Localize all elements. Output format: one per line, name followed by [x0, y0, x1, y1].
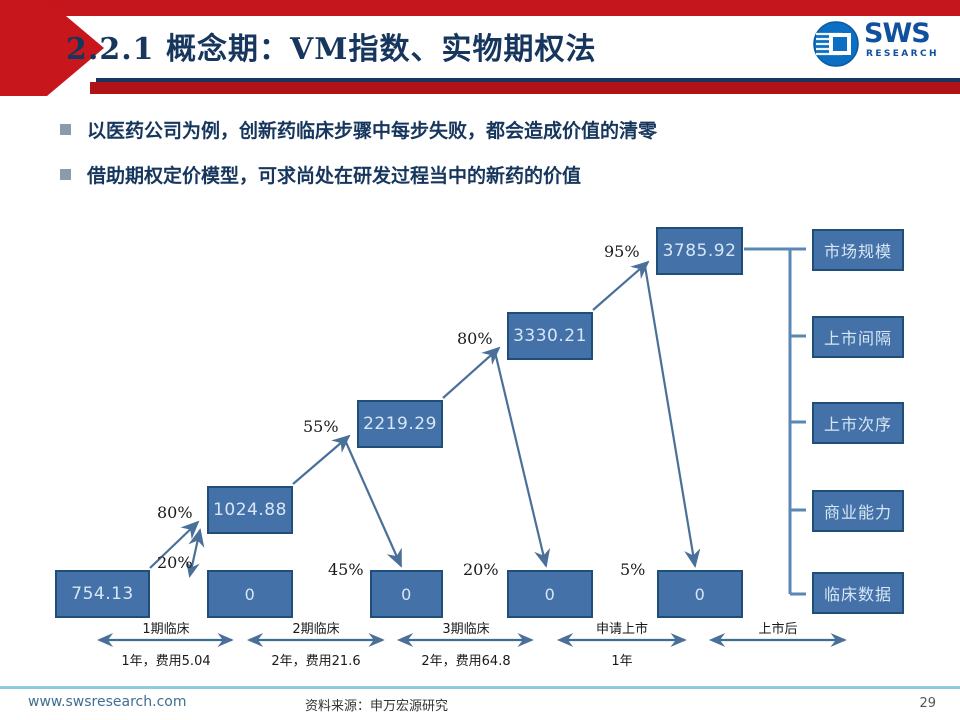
factor-node-commercial[interactable]: 商业能力 [812, 490, 904, 532]
sws-logo-subtext: RESEARCH [866, 49, 939, 59]
footer-divider [0, 686, 960, 689]
sws-logo: SWS RESEARCH [812, 18, 952, 74]
factor-node-launch-order[interactable]: 上市次序 [812, 402, 904, 444]
factor-node-clinical-data[interactable]: 临床数据 [812, 572, 904, 614]
factor-node-launch-interval[interactable]: 上市间隔 [812, 316, 904, 358]
probability-label-20a: 20% [157, 553, 193, 572]
header-red-top-band [0, 0, 960, 16]
probability-label-55: 55% [303, 417, 339, 436]
phase-detail-3: 2年，费用64.8 [406, 650, 526, 669]
bullet-text: 借助期权定价模型，可求尚处在研发过程当中的新药的价值 [87, 161, 581, 188]
tree-node-2219[interactable]: 2219.29 [357, 400, 443, 448]
phase-name-1: 1期临床 [126, 618, 206, 637]
footer-website-link[interactable]: www.swsresearch.com [28, 694, 186, 710]
square-bullet-icon [60, 124, 71, 135]
phase-detail-1: 1年，费用5.04 [106, 650, 226, 669]
slide-header: 2.2.1 概念期：VM指数、实物期权法 SWS RESEARCH [0, 0, 960, 104]
factor-bracket [744, 249, 806, 594]
phase-detail-2: 2年，费用21.6 [256, 650, 376, 669]
phase-name-3: 3期临床 [426, 618, 506, 637]
slide-footer: www.swsresearch.com 资料来源：申万宏源研究 29 [0, 686, 960, 720]
tree-node-3330[interactable]: 3330.21 [507, 312, 593, 360]
phase-name-2: 2期临床 [276, 618, 356, 637]
probability-label-80b: 80% [457, 329, 493, 348]
square-bullet-icon [60, 169, 71, 180]
tree-node-fail-2[interactable]: 0 [370, 570, 443, 618]
probability-label-95: 95% [604, 242, 640, 261]
sws-logo-mark-icon [812, 20, 860, 68]
tree-node-fail-4[interactable]: 0 [657, 570, 743, 618]
phase-detail-4: 1年 [582, 650, 662, 669]
probability-label-80a: 80% [157, 503, 193, 522]
list-item: 借助期权定价模型，可求尚处在研发过程当中的新药的价值 [60, 161, 920, 188]
bullet-list: 以医药公司为例，创新药临床步骤中每步失败，都会造成价值的清零 借助期权定价模型，… [60, 116, 920, 206]
slide-root: 2.2.1 概念期：VM指数、实物期权法 SWS RESEARCH 以医药公司为… [0, 0, 960, 720]
page-title: 2.2.1 概念期：VM指数、实物期权法 [66, 24, 596, 68]
footer-page-number: 29 [919, 696, 936, 711]
bullet-text: 以医药公司为例，创新药临床步骤中每步失败，都会造成价值的清零 [87, 116, 657, 143]
phase-name-4: 申请上市 [582, 618, 662, 637]
tree-node-fail-3[interactable]: 0 [507, 570, 593, 618]
footer-source-note: 资料来源：申万宏源研究 [305, 695, 448, 714]
factor-node-market-size[interactable]: 市场规模 [812, 229, 904, 271]
decision-tree-diagram: 754.13 1024.88 0 2219.29 0 3330.21 0 378… [0, 200, 960, 680]
tree-node-754[interactable]: 754.13 [55, 570, 150, 618]
list-item: 以医药公司为例，创新药临床步骤中每步失败，都会造成价值的清零 [60, 116, 920, 143]
header-red-bottom-band [90, 82, 960, 94]
tree-node-1024[interactable]: 1024.88 [207, 486, 293, 534]
sws-logo-wordmark: SWS [864, 20, 930, 47]
tree-node-3785[interactable]: 3785.92 [656, 227, 743, 275]
probability-label-20b: 20% [463, 560, 499, 579]
phase-name-5: 上市后 [738, 618, 818, 637]
probability-label-45: 45% [328, 560, 364, 579]
tree-node-fail-1[interactable]: 0 [207, 570, 293, 618]
probability-label-5: 5% [620, 560, 645, 579]
